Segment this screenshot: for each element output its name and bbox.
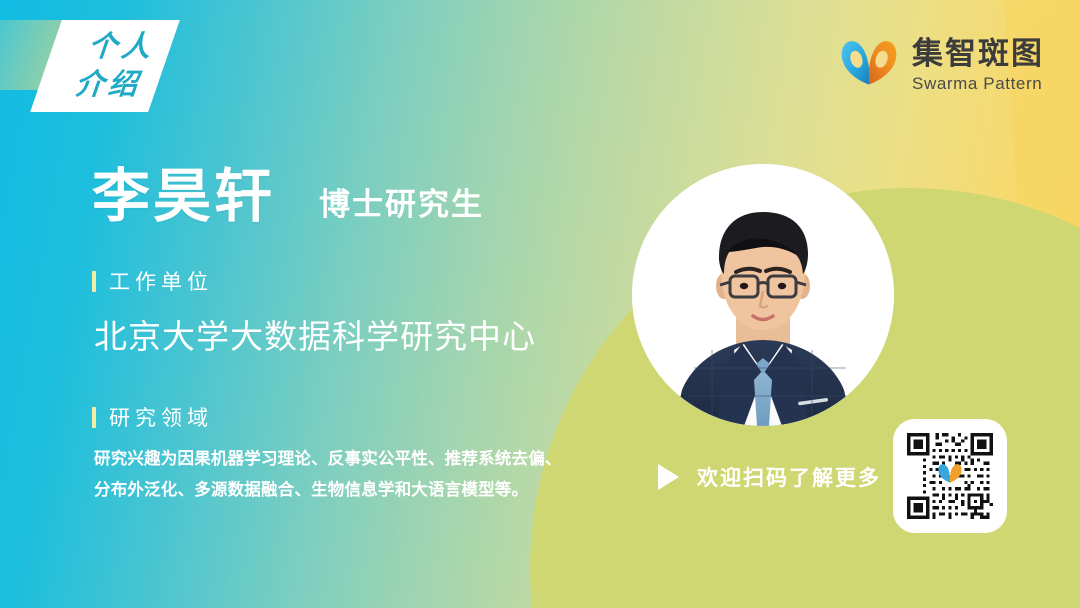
affiliation-value: 北京大学大数据科学研究中心 xyxy=(94,310,612,358)
scan-cta-text: 欢迎扫码了解更多 xyxy=(697,462,881,492)
research-label: 研究领域 xyxy=(109,402,213,432)
profile-info: 李昊轩 博士研究生 工作单位 北京大学大数据科学研究中心 研究领域 研究兴趣为因… xyxy=(92,168,612,505)
qr-code-icon xyxy=(904,430,996,522)
swarma-butterfly-logo-icon xyxy=(838,36,900,94)
research-section: 研究领域 研究兴趣为因果机器学习理论、反事实公平性、推荐系统去偏、分布外泛化、多… xyxy=(92,402,612,505)
brand-name-en: Swarma Pattern xyxy=(912,75,1044,92)
section-badge: 个人 介绍 xyxy=(0,0,260,130)
avatar xyxy=(632,164,894,426)
accent-bar-icon xyxy=(92,407,96,428)
brand-logo: 集智斑图 Swarma Pattern xyxy=(838,36,1044,94)
badge-line-2: 介绍 xyxy=(67,66,150,104)
brand-name-cn: 集智斑图 xyxy=(912,38,1044,69)
affiliation-label-row: 工作单位 xyxy=(92,266,612,296)
brand-text-group: 集智斑图 Swarma Pattern xyxy=(912,38,1044,92)
play-triangle-icon xyxy=(658,464,679,490)
affiliation-label: 工作单位 xyxy=(109,266,213,296)
slide-canvas: 个人 介绍 xyxy=(0,0,1080,608)
person-name: 李昊轩 xyxy=(92,168,275,226)
accent-bar-icon xyxy=(92,271,96,292)
research-label-row: 研究领域 xyxy=(92,402,612,432)
research-value: 研究兴趣为因果机器学习理论、反事实公平性、推荐系统去偏、分布外泛化、多源数据融合… xyxy=(94,444,574,505)
badge-line-1: 个人 xyxy=(80,28,163,66)
scan-cta: 欢迎扫码了解更多 xyxy=(658,462,881,492)
qr-code-card[interactable] xyxy=(893,419,1007,533)
affiliation-section: 工作单位 北京大学大数据科学研究中心 xyxy=(92,266,612,358)
name-row: 李昊轩 博士研究生 xyxy=(92,168,612,226)
person-title: 博士研究生 xyxy=(319,189,484,226)
